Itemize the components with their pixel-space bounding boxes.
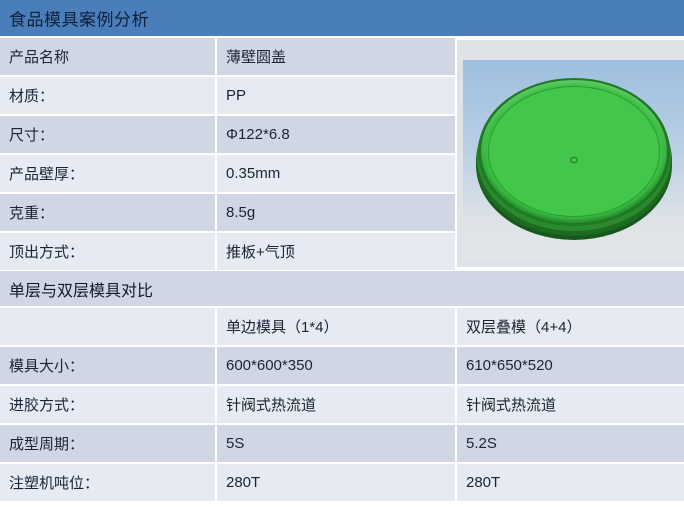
- spec-value-ejection: 推板+气顶: [217, 233, 457, 272]
- compare-double-gate-type: 针阀式热流道: [457, 386, 684, 425]
- compare-label-mold-size: 模具大小：: [0, 347, 217, 386]
- table-header-row: 单边模具（1*4） 双层叠模（4+4）: [0, 308, 684, 347]
- table-row: 注塑机吨位： 280T 280T: [0, 464, 684, 503]
- spec-value-size: Φ122*6.8: [217, 116, 457, 155]
- compare-label-machine-tonnage: 注塑机吨位：: [0, 464, 217, 503]
- spec-value-wall-thickness: 0.35mm: [217, 155, 457, 194]
- compare-double-machine-tonnage: 280T: [457, 464, 684, 503]
- table-row: 进胶方式： 针阀式热流道 针阀式热流道: [0, 386, 684, 425]
- slide-page: 食品模具案例分析 产品名称 薄壁圆盖 材质： PP 尺寸： Φ122*6.8 产…: [0, 0, 684, 507]
- page-title: 食品模具案例分析: [9, 6, 149, 31]
- compare-single-machine-tonnage: 280T: [217, 464, 457, 503]
- round-lid-render: [474, 74, 674, 246]
- spec-label-ejection: 顶出方式：: [0, 233, 217, 272]
- compare-col-single: 单边模具（1*4）: [217, 308, 457, 347]
- spec-label-size: 尺寸：: [0, 116, 217, 155]
- product-image-stage: [463, 60, 684, 260]
- compare-double-cycle-time: 5.2S: [457, 425, 684, 464]
- page-title-bar: 食品模具案例分析: [0, 0, 684, 36]
- spec-value-material: PP: [217, 77, 457, 116]
- lid-center-hole: [570, 157, 578, 163]
- compare-section-heading-label: 单层与双层模具对比: [9, 277, 153, 301]
- compare-section-heading: 单层与双层模具对比: [0, 271, 684, 306]
- table-row: 模具大小： 600*600*350 610*650*520: [0, 347, 684, 386]
- spec-value-product-name: 薄壁圆盖: [217, 38, 457, 77]
- compare-single-cycle-time: 5S: [217, 425, 457, 464]
- spec-label-product-name: 产品名称: [0, 38, 217, 77]
- spec-value-weight: 8.5g: [217, 194, 457, 233]
- table-row: 成型周期： 5S 5.2S: [0, 425, 684, 464]
- compare-label-gate-type: 进胶方式：: [0, 386, 217, 425]
- compare-single-mold-size: 600*600*350: [217, 347, 457, 386]
- product-image-panel: [457, 40, 684, 267]
- spec-label-wall-thickness: 产品壁厚：: [0, 155, 217, 194]
- compare-col-double: 双层叠模（4+4）: [457, 308, 684, 347]
- compare-single-gate-type: 针阀式热流道: [217, 386, 457, 425]
- compare-double-mold-size: 610*650*520: [457, 347, 684, 386]
- compare-label-cycle-time: 成型周期：: [0, 425, 217, 464]
- spec-label-material: 材质：: [0, 77, 217, 116]
- lid-face-inner: [488, 86, 660, 217]
- spec-label-weight: 克重：: [0, 194, 217, 233]
- mold-compare-table: 单边模具（1*4） 双层叠模（4+4） 模具大小： 600*600*350 61…: [0, 308, 684, 503]
- compare-col-blank: [0, 308, 217, 347]
